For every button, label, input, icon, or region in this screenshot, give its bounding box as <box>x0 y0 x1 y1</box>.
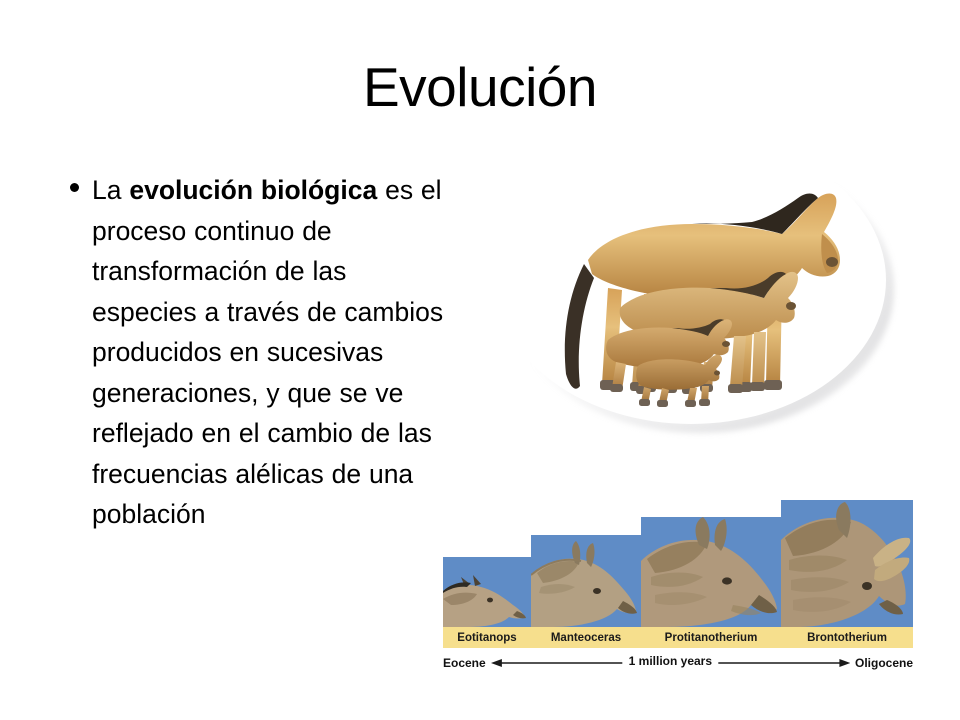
species-label: Brontotherium <box>781 632 913 644</box>
brontothere-panel <box>641 517 781 627</box>
horse-evolution-figure <box>496 136 902 436</box>
brontothere-panel-strip <box>443 500 913 627</box>
species-label-band: Eotitanops Manteoceras Protitanotherium … <box>443 627 913 648</box>
horse-illustration-icon <box>496 136 886 424</box>
brontothere-panel <box>781 500 913 627</box>
protitanotherium-head-icon <box>641 517 781 627</box>
geologic-timeline: Eocene 1 million years Oligocene <box>443 652 913 674</box>
manteoceras-head-icon <box>531 535 641 627</box>
list-item: La evolución biológica es el proceso con… <box>62 170 452 535</box>
species-label: Manteoceras <box>531 632 641 644</box>
bullet-dot-icon <box>70 183 79 192</box>
species-label: Eotitanops <box>443 632 531 644</box>
brontothere-panel <box>531 535 641 627</box>
timeline-axis: 1 million years <box>491 656 850 670</box>
brontothere-panel <box>443 557 531 627</box>
timeline-start-label: Eocene <box>443 656 486 670</box>
paragraph-rest: es el proceso continuo de transformación… <box>92 175 443 529</box>
slide-canvas: Evolución La evolución biológica es el p… <box>0 0 960 720</box>
oval-frame <box>496 136 886 424</box>
paragraph-emphasis: evolución biológica <box>129 175 377 205</box>
species-label: Protitanotherium <box>641 632 781 644</box>
paragraph-lead: La <box>92 175 129 205</box>
brontothere-evolution-figure: Eotitanops Manteoceras Protitanotherium … <box>443 500 913 678</box>
page-title: Evolución <box>0 56 960 118</box>
timeline-end-label: Oligocene <box>855 656 913 670</box>
timeline-span-label: 1 million years <box>623 654 718 668</box>
body-text-block: La evolución biológica es el proceso con… <box>62 170 452 535</box>
brontotherium-head-icon <box>781 500 913 627</box>
eotitanops-head-icon <box>443 557 531 627</box>
bullet-paragraph: La evolución biológica es el proceso con… <box>92 170 452 535</box>
